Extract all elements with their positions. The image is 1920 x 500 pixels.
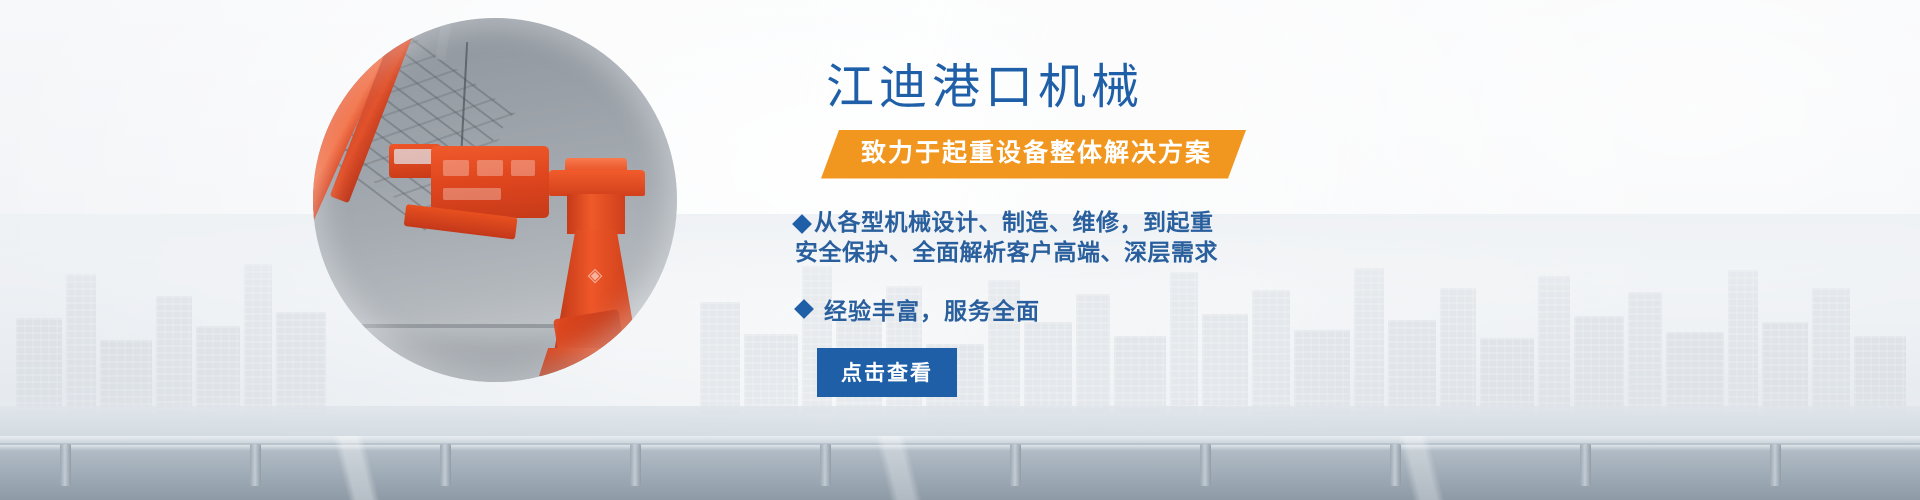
- feature-description: 从各型机械设计、制造、维修，到起重 安全保护、全面解析客户高端、深层需求: [795, 207, 1793, 268]
- feature-line-2: 安全保护、全面解析客户高端、深层需求: [795, 237, 1793, 268]
- banner-content: 江迪港口机械 致力于起重设备整体解决方案 从各型机械设计、制造、维修，到起重 安…: [793, 50, 1793, 430]
- photo-edge-vignette: [313, 18, 677, 382]
- feature-line-2-text: 安全保护、全面解析客户高端、深层需求: [795, 239, 1218, 265]
- diamond-bullet-icon: [794, 299, 814, 319]
- highlight-text: 经验丰富，服务全面: [824, 292, 1040, 326]
- diamond-bullet-icon: [792, 214, 812, 234]
- feature-line-1: 从各型机械设计、制造、维修，到起重: [795, 207, 1793, 238]
- crane-photo-circle: ◈: [313, 18, 677, 382]
- banner-title: 江迪港口机械: [826, 50, 1793, 112]
- feature-line-1-text: 从各型机械设计、制造、维修，到起重: [814, 209, 1214, 235]
- hero-banner: ◈ 江迪港口机械 致力于起重设备整体解决方案 从各型机械设计、制造、维修，到起重…: [0, 0, 1920, 500]
- tagline-text: 致力于起重设备整体解决方案: [861, 139, 1212, 169]
- deck-lane-markings: [0, 436, 1920, 500]
- highlight-statement: 经验丰富，服务全面: [797, 292, 1793, 326]
- tagline-ribbon: 致力于起重设备整体解决方案: [821, 130, 1246, 179]
- view-details-button[interactable]: 点击查看: [817, 348, 957, 397]
